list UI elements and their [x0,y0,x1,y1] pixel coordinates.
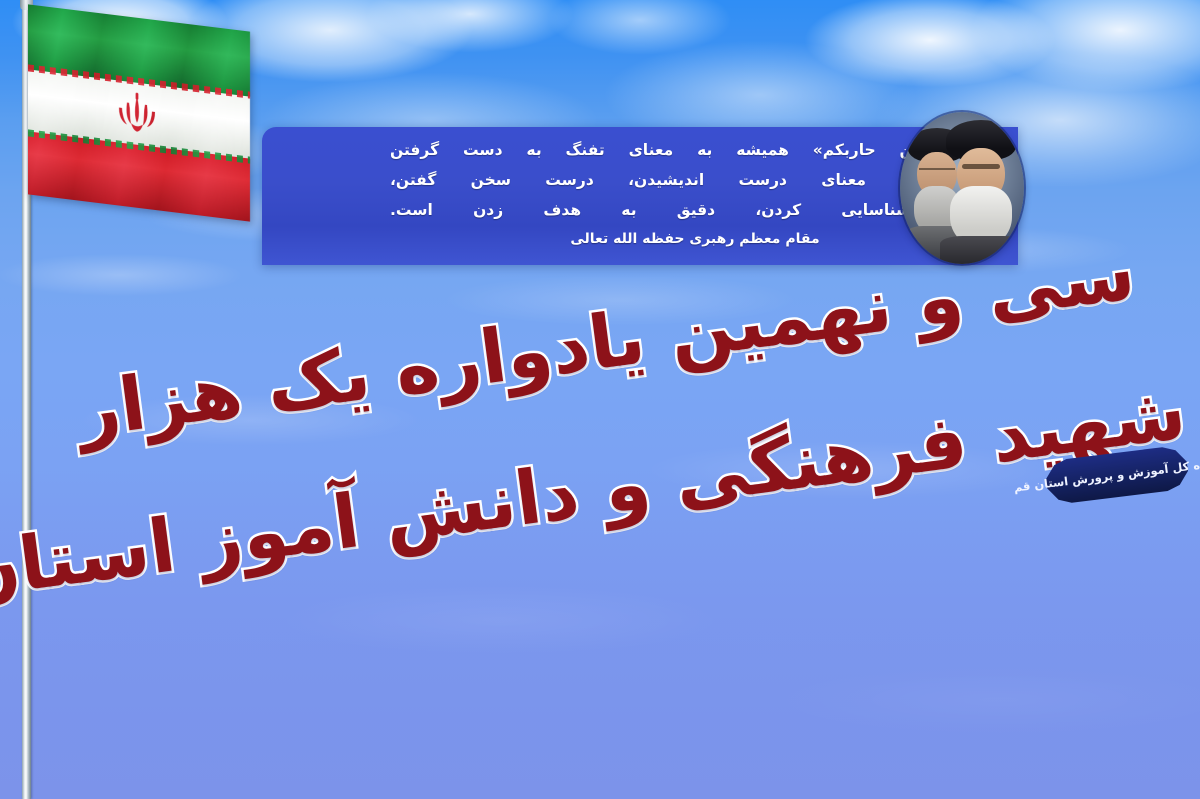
poster-canvas: «حرب لمن حاربکم» همیشه به معنای تفنگ به … [0,0,1200,799]
iran-flag-icon [28,4,250,221]
leaders-portrait-group [900,112,1024,264]
flag-wave-shading [28,4,250,221]
brow-shape [962,164,1000,169]
robe-shape [940,236,1024,264]
portrait-khomeini [944,120,1020,260]
iran-flag-group [0,0,250,799]
portrait-medallion [900,112,1024,264]
